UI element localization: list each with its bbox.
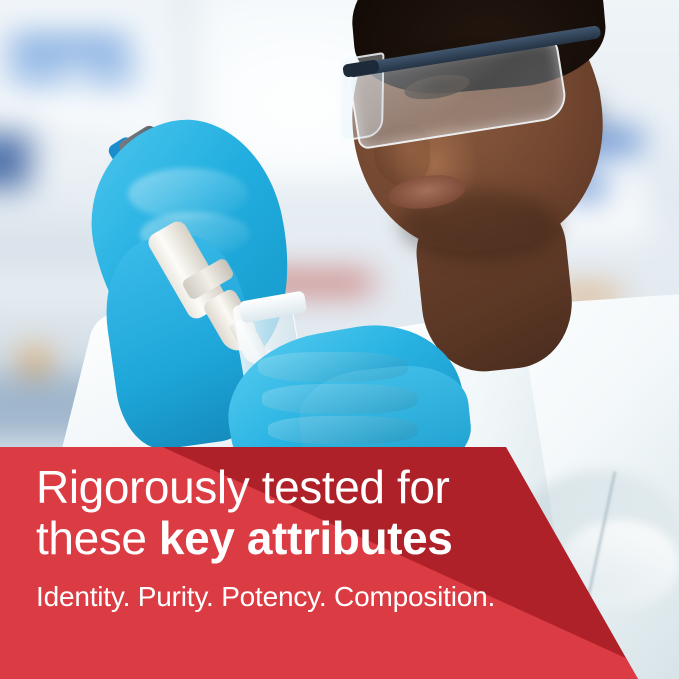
banner-text-block: Rigorously tested for these key attribut… (36, 462, 596, 614)
headline-regular-part: these (36, 512, 159, 564)
headline-line-1: Rigorously tested for (36, 462, 596, 513)
glove-finger (262, 384, 418, 414)
glove-finger (258, 352, 408, 382)
headline-line-2: these key attributes (36, 513, 596, 564)
headline-bold-part: key attributes (159, 512, 453, 564)
subline-attributes: Identity. Purity. Potency. Composition. (36, 580, 596, 614)
poster: Rigorously tested for these key attribut… (0, 0, 679, 679)
glove-finger (268, 416, 418, 444)
